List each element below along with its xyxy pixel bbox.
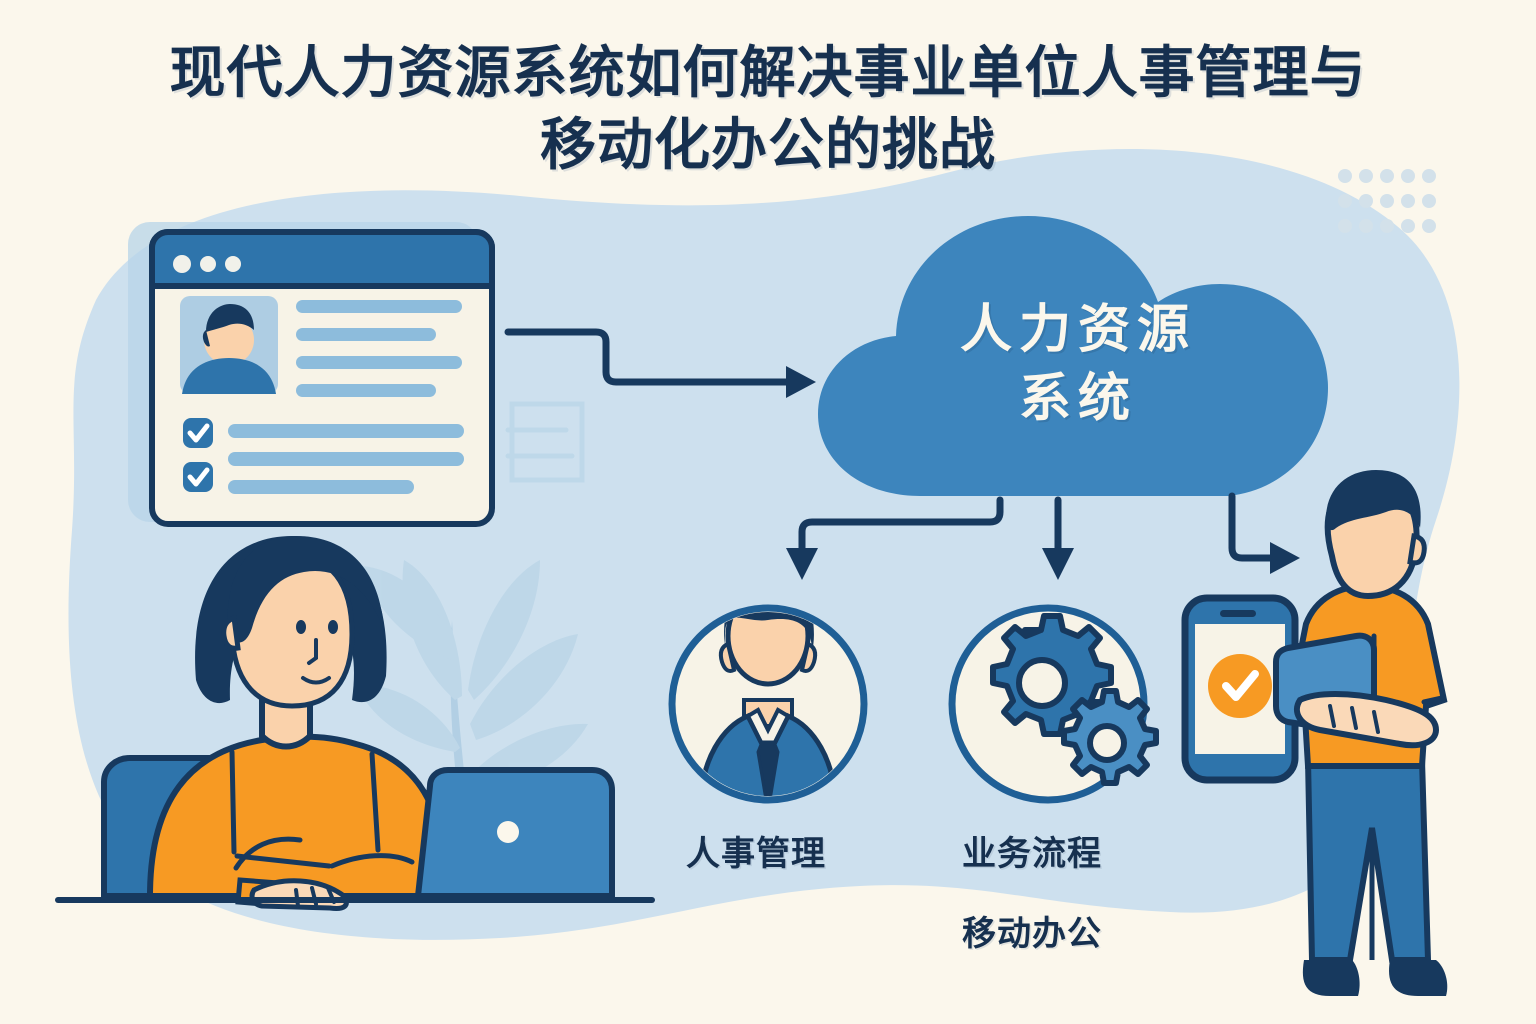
node-label-hr-management: 人事管理 — [686, 826, 826, 875]
eye — [296, 620, 306, 634]
arrow-cloud-to-mobile — [1232, 496, 1300, 574]
dot-close[interactable] — [173, 255, 191, 273]
title-line-1: 现代人力资源系统如何解决事业单位人事管理与 — [0, 38, 1536, 110]
phone-speaker — [1220, 610, 1256, 617]
node-hr-management[interactable] — [672, 583, 864, 812]
ear — [1410, 536, 1424, 563]
woman-at-laptop-illustration — [58, 536, 652, 909]
eye — [328, 620, 338, 634]
node-label-business-process: 业务流程 — [962, 826, 1102, 875]
checklist-item[interactable] — [183, 462, 213, 492]
ear — [224, 618, 238, 648]
infographic-canvas: 现代人力资源系统如何解决事业单位人事管理与 移动化办公的挑战 人力资源 系统 人… — [0, 0, 1536, 1024]
shoe — [1389, 960, 1447, 996]
arrow-cloud-to-process — [1042, 500, 1074, 580]
shoe — [1303, 960, 1360, 996]
employee-record-window[interactable] — [128, 222, 492, 524]
title-line-2: 移动化办公的挑战 — [0, 110, 1536, 182]
legs — [1308, 760, 1428, 960]
checklist-item[interactable] — [183, 418, 213, 448]
node-label-mobile-office: 移动办公 — [962, 906, 1102, 955]
arrow-cloud-to-hr — [786, 500, 1000, 580]
hr-system-cloud[interactable] — [818, 216, 1328, 496]
dot-maximize[interactable] — [225, 256, 241, 272]
arrow-window-to-cloud — [508, 332, 816, 398]
dot-minimize[interactable] — [200, 256, 216, 272]
man-with-tablet-illustration — [1276, 470, 1447, 996]
laptop-logo — [497, 821, 519, 843]
node-business-process[interactable] — [952, 608, 1156, 800]
sleeve-line — [232, 752, 234, 852]
page-title: 现代人力资源系统如何解决事业单位人事管理与 移动化办公的挑战 — [0, 38, 1536, 181]
check-circle-icon — [1208, 654, 1272, 718]
